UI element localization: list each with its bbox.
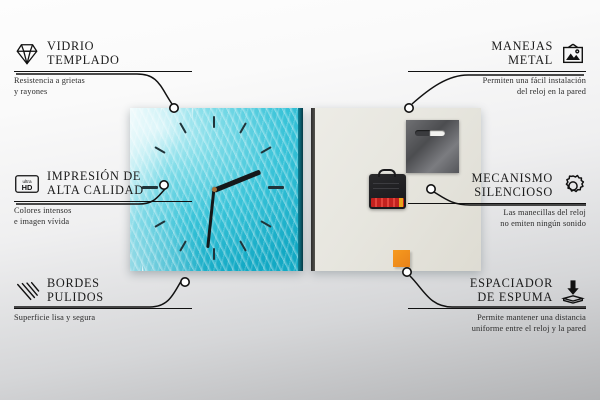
feature-title: ESPACIADOR DE ESPUMA xyxy=(470,277,553,305)
feature-header: MANEJAS METAL xyxy=(408,40,586,68)
feature-title: MECANISMO SILENCIOSO xyxy=(472,172,553,200)
feature-subtitle: Permiten una fácil instalación del reloj… xyxy=(408,75,586,97)
feature-title: MANEJAS METAL xyxy=(491,40,553,68)
glass-edge-right xyxy=(298,108,303,271)
divider xyxy=(14,71,192,72)
svg-text:HD: HD xyxy=(22,183,33,192)
ultra-hd-icon: ultra HD xyxy=(14,171,40,197)
clock-tick-6 xyxy=(213,248,215,260)
arrow-down-stack-icon xyxy=(560,278,586,304)
clock-tick-10 xyxy=(154,146,165,154)
divider xyxy=(408,308,586,309)
foam-spacer xyxy=(393,250,410,267)
battery xyxy=(371,198,404,207)
feature-subtitle: Superficie lisa y segura xyxy=(14,312,192,323)
clock-tick-12 xyxy=(213,116,215,128)
clock-tick-2 xyxy=(260,146,271,154)
feature-header: ultra HD IMPRESIÓN DE ALTA CALIDAD xyxy=(14,170,192,198)
divider xyxy=(14,201,192,202)
divider xyxy=(408,71,586,72)
clock-tick-4 xyxy=(260,220,271,228)
battery-terminal xyxy=(399,198,403,207)
feature-impresion-alta-calidad: ultra HD IMPRESIÓN DE ALTA CALIDAD Color… xyxy=(14,170,192,227)
mechanism-detail-line xyxy=(373,188,399,189)
gear-icon xyxy=(560,173,586,199)
feature-bordes-pulidos: BORDES PULIDOS Superficie lisa y segura xyxy=(14,277,192,323)
clock-tick-11 xyxy=(179,122,187,133)
feature-header: VIDRIO TEMPLADO xyxy=(14,40,192,68)
clock-tick-1 xyxy=(239,122,247,133)
feature-mecanismo-silencioso: MECANISMO SILENCIOSO Las manecillas del … xyxy=(408,172,586,229)
feature-subtitle: Permite mantener una distancia uniforme … xyxy=(408,312,586,334)
mechanism-detail-line xyxy=(373,183,399,184)
clock-second-hand xyxy=(214,190,216,191)
feature-header: BORDES PULIDOS xyxy=(14,277,192,305)
divider xyxy=(14,308,192,309)
feature-subtitle: Colores intensos e imagen vívida xyxy=(14,205,192,227)
feature-subtitle: Las manecillas del reloj no emiten ningú… xyxy=(408,207,586,229)
clock-center-pin xyxy=(212,187,217,192)
clock-tick-5 xyxy=(239,240,247,251)
picture-frame-icon xyxy=(560,41,586,67)
feature-title: IMPRESIÓN DE ALTA CALIDAD xyxy=(47,170,144,198)
feature-header: ESPACIADOR DE ESPUMA xyxy=(408,277,586,305)
clock-tick-7 xyxy=(179,240,187,251)
diamond-icon xyxy=(14,41,40,67)
clock-hour-hand xyxy=(213,169,261,192)
clock-tick-3 xyxy=(268,186,284,189)
quartz-mechanism xyxy=(369,174,406,209)
feature-header: MECANISMO SILENCIOSO xyxy=(408,172,586,200)
divider xyxy=(408,203,586,204)
hanger-slot xyxy=(415,130,445,136)
feature-title: VIDRIO TEMPLADO xyxy=(47,40,120,68)
infographic-canvas: VIDRIO TEMPLADO Resistencia a grietas y … xyxy=(0,0,600,400)
mechanism-hanger-loop xyxy=(378,169,396,177)
glass-edge-left xyxy=(311,108,315,271)
feature-vidrio-templado: VIDRIO TEMPLADO Resistencia a grietas y … xyxy=(14,40,192,97)
feature-title: BORDES PULIDOS xyxy=(47,277,104,305)
clock-minute-hand xyxy=(207,190,216,248)
diagonal-lines-icon xyxy=(14,278,40,304)
feature-manejas-metal: MANEJAS METAL Permiten una fácil instala… xyxy=(408,40,586,97)
hanger-plate xyxy=(406,120,459,173)
feature-espaciador-espuma: ESPACIADOR DE ESPUMA Permite mantener un… xyxy=(408,277,586,334)
feature-subtitle: Resistencia a grietas y rayones xyxy=(14,75,192,97)
